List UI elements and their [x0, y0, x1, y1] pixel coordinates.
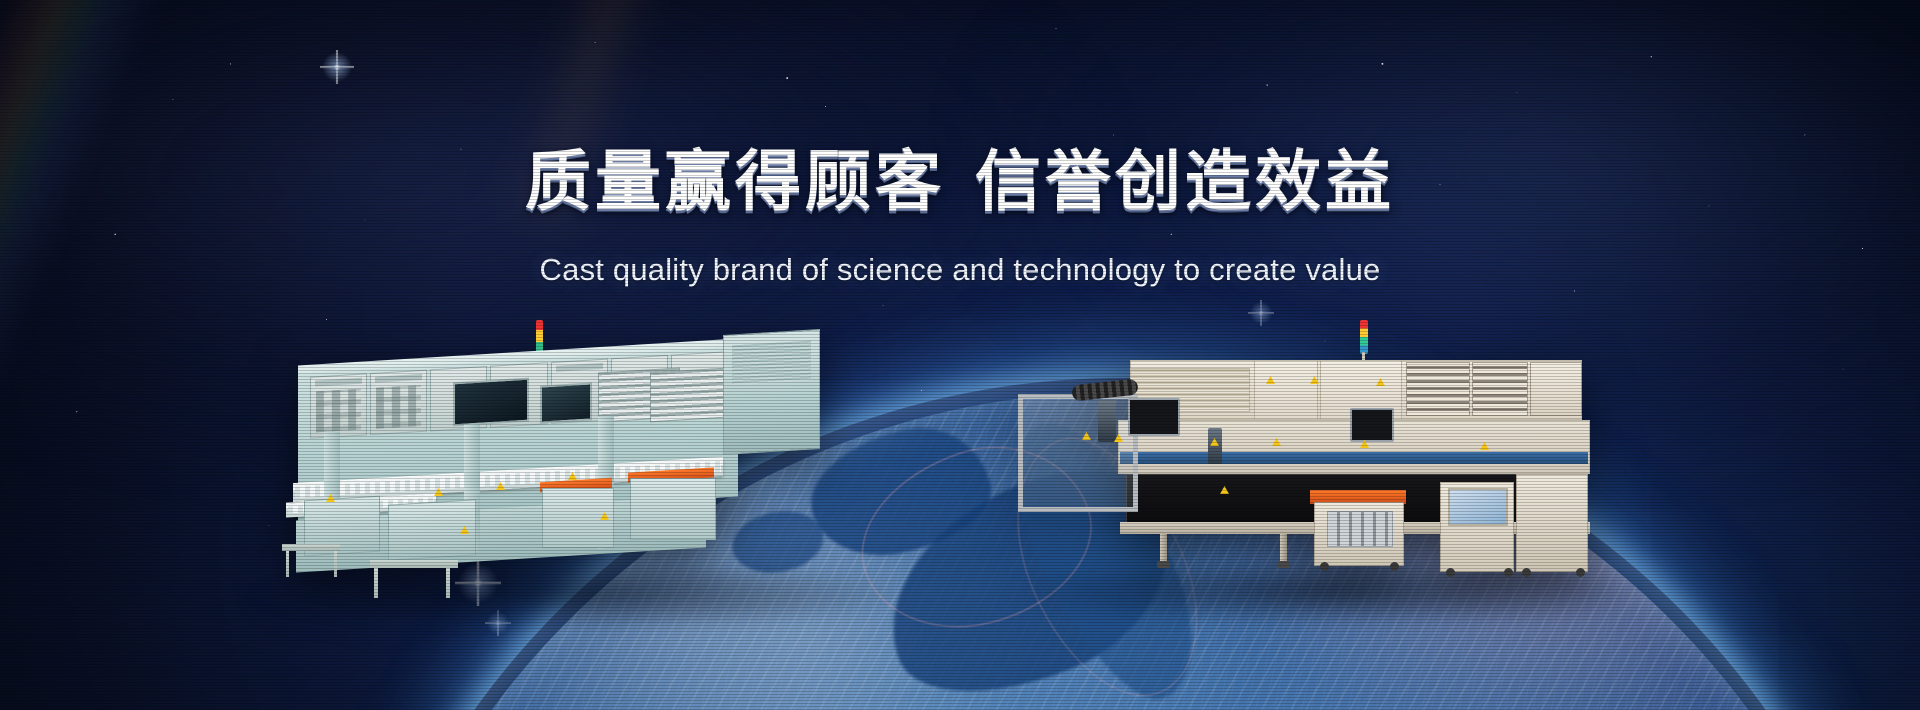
- support-leg: [1280, 534, 1287, 562]
- leveling-foot: [1157, 561, 1170, 568]
- instrument-panel: [1530, 362, 1582, 416]
- caster-wheel: [1446, 568, 1455, 577]
- module-rack: [1472, 362, 1528, 416]
- robot-gantry-frame: [1018, 394, 1138, 512]
- panel-button-grid: [316, 389, 361, 433]
- machine-photo-right: [1010, 342, 1620, 592]
- caster-wheel: [1320, 562, 1329, 571]
- caster-wheel: [1576, 568, 1585, 577]
- work-bench-leg: [446, 568, 450, 598]
- cabinet-vent-grille: [732, 341, 811, 386]
- work-bench-leg: [374, 568, 378, 598]
- machine-tall-cabinet: [723, 329, 820, 455]
- headline-container: 质量赢得顾客信誉创造效益: [0, 148, 1920, 215]
- signal-tower-light-icon: [1360, 320, 1368, 354]
- cabinet-door: [1254, 360, 1318, 420]
- headline: 质量赢得顾客信誉创造效益: [525, 148, 1395, 215]
- dispensing-head: [1098, 400, 1116, 442]
- control-panel: [370, 370, 427, 435]
- work-bench-top: [370, 560, 458, 568]
- hmi-display-screen: [453, 378, 529, 427]
- panel-nameplate: [556, 363, 603, 372]
- machine-photo-left: [268, 312, 878, 592]
- headline-phrase-1: 质量赢得顾客: [525, 143, 945, 220]
- headline-phrase-2: 信誉创造效益: [975, 143, 1395, 220]
- control-panel: [310, 373, 367, 438]
- work-stool-leg: [334, 551, 337, 577]
- caster-wheel: [1504, 568, 1513, 577]
- operator-console-screen: [1448, 488, 1508, 526]
- leveling-foot: [1277, 561, 1290, 568]
- inspection-monitor: [1350, 408, 1394, 442]
- conveyor-belt: [1120, 452, 1588, 464]
- hero-banner: 质量赢得顾客信誉创造效益 Cast quality brand of scien…: [0, 0, 1920, 710]
- caster-wheel: [1390, 562, 1399, 571]
- caster-wheel: [1522, 568, 1531, 577]
- cart-window-grille: [1327, 511, 1393, 547]
- module-rack: [1406, 362, 1470, 416]
- work-stool-top: [282, 544, 340, 551]
- module-rack: [650, 368, 726, 423]
- support-leg: [1160, 534, 1167, 562]
- mobile-work-cart: [1314, 502, 1404, 566]
- end-cabinet: [1516, 474, 1588, 572]
- panel-button-grid: [376, 385, 421, 429]
- touch-panel-screen: [540, 382, 592, 423]
- subheadline: Cast quality brand of science and techno…: [540, 252, 1381, 288]
- panel-nameplate: [375, 374, 422, 383]
- mobile-work-cart: [630, 478, 716, 540]
- dispensing-head: [1208, 428, 1222, 464]
- inspection-monitor: [1128, 398, 1180, 436]
- subheadline-container: Cast quality brand of science and techno…: [0, 252, 1920, 288]
- panel-nameplate: [315, 378, 362, 387]
- work-stool-leg: [286, 551, 289, 577]
